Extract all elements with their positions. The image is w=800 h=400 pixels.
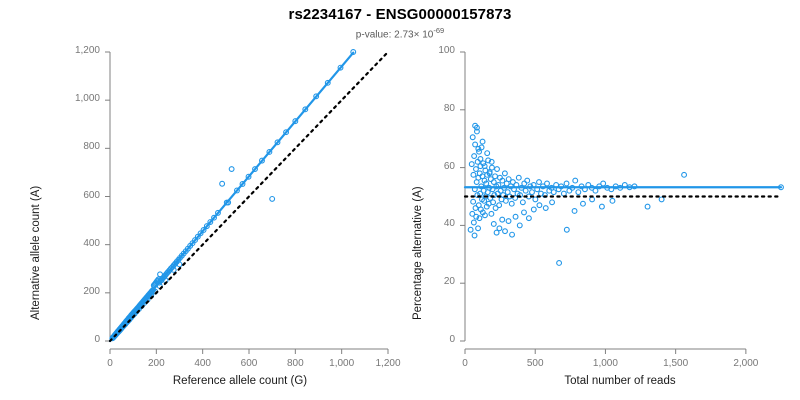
data-point <box>472 154 477 159</box>
data-point <box>600 204 605 209</box>
right-xtick-label: 2,000 <box>716 358 776 369</box>
data-point <box>543 206 548 211</box>
data-point <box>478 157 483 162</box>
data-point <box>468 227 473 232</box>
right-xtick-label: 1,000 <box>575 358 635 369</box>
data-point <box>471 199 476 204</box>
right-xtick-label: 1,500 <box>646 358 706 369</box>
data-point <box>564 227 569 232</box>
data-point <box>502 171 507 176</box>
right-panel <box>460 52 783 354</box>
right-ytick-label: 100 <box>403 45 455 56</box>
data-point <box>520 200 525 205</box>
left-ytick-label: 200 <box>48 286 100 297</box>
data-point <box>525 178 530 183</box>
data-point <box>537 180 542 185</box>
data-point <box>500 217 505 222</box>
data-point <box>545 181 550 186</box>
data-point <box>270 197 275 202</box>
right-ytick-label: 60 <box>403 161 455 172</box>
data-point <box>491 200 496 205</box>
data-point <box>590 197 595 202</box>
data-point <box>471 172 476 177</box>
data-point <box>470 135 475 140</box>
data-point <box>476 226 481 231</box>
data-point <box>522 181 527 186</box>
left-xtick-label: 1,200 <box>358 358 418 369</box>
data-point <box>497 203 502 208</box>
data-point <box>471 220 476 225</box>
data-point <box>567 188 572 193</box>
left-regression-line <box>110 53 353 341</box>
data-point <box>645 204 650 209</box>
left-ytick-label: 1,200 <box>48 45 100 56</box>
data-point <box>527 216 532 221</box>
data-point <box>491 222 496 227</box>
data-point <box>506 219 511 224</box>
right-ytick-label: 40 <box>403 218 455 229</box>
data-point <box>220 181 225 186</box>
right-xtick-label: 0 <box>435 358 495 369</box>
left-ytick-label: 0 <box>48 334 100 345</box>
data-point <box>593 188 598 193</box>
figure-container: rs2234167 - ENSG00000157873 p-value: 2.7… <box>0 0 800 400</box>
left-ytick-label: 1,000 <box>48 93 100 104</box>
data-point <box>495 167 500 172</box>
data-point <box>489 211 494 216</box>
data-point <box>497 226 502 231</box>
data-point <box>659 197 664 202</box>
data-point <box>509 201 514 206</box>
data-point <box>485 151 490 156</box>
left-panel <box>105 50 388 354</box>
data-point <box>531 207 536 212</box>
data-point <box>513 214 518 219</box>
data-point <box>564 181 569 186</box>
left-ytick-label: 800 <box>48 141 100 152</box>
data-point <box>573 178 578 183</box>
data-point <box>474 167 479 172</box>
data-point <box>472 233 477 238</box>
data-point <box>473 142 478 147</box>
data-point <box>576 190 581 195</box>
right-ytick-label: 0 <box>403 334 455 345</box>
data-point <box>523 188 528 193</box>
data-point <box>229 167 234 172</box>
data-point <box>533 197 538 202</box>
data-point <box>581 201 586 206</box>
right-ytick-label: 20 <box>403 276 455 287</box>
data-point <box>503 229 508 234</box>
data-point <box>469 162 474 167</box>
data-point <box>522 210 527 215</box>
right-points <box>468 123 783 265</box>
data-point <box>530 190 535 195</box>
data-point <box>550 200 555 205</box>
data-point <box>557 261 562 266</box>
data-point <box>551 190 556 195</box>
data-point <box>510 232 515 237</box>
data-point <box>516 175 521 180</box>
data-point <box>572 209 577 214</box>
left-identity-line <box>110 52 388 341</box>
data-point <box>537 203 542 208</box>
data-point <box>517 223 522 228</box>
plot-canvas <box>0 0 800 400</box>
data-point <box>682 172 687 177</box>
data-point <box>610 198 615 203</box>
left-ytick-label: 400 <box>48 238 100 249</box>
right-ytick-label: 80 <box>403 103 455 114</box>
data-point <box>490 165 495 170</box>
data-point <box>503 198 508 203</box>
right-xtick-label: 500 <box>505 358 565 369</box>
left-ytick-label: 600 <box>48 190 100 201</box>
data-point <box>601 181 606 186</box>
data-point <box>493 174 498 179</box>
data-point <box>561 191 566 196</box>
data-point <box>480 139 485 144</box>
